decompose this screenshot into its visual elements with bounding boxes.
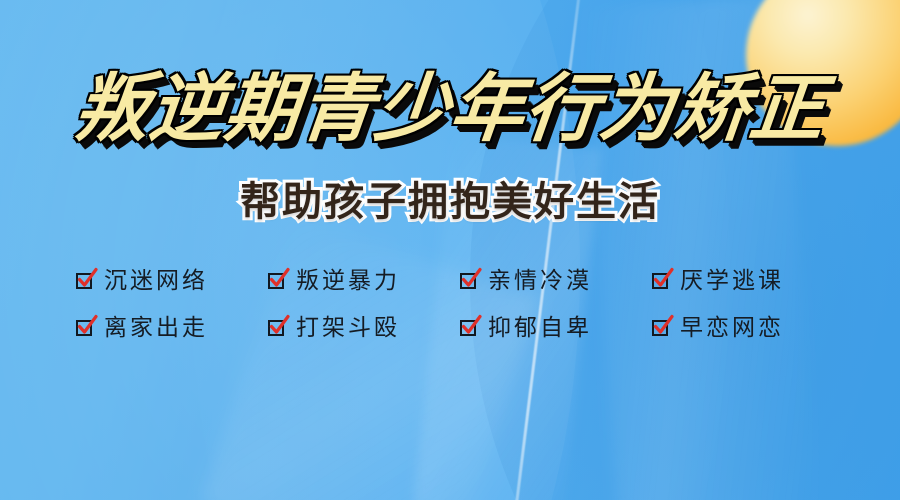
list-item-label: 沉迷网络	[104, 270, 208, 293]
list-item-label: 亲情冷漠	[488, 270, 592, 293]
checked-checkbox-icon	[460, 318, 481, 339]
list-item-label: 离家出走	[104, 317, 208, 340]
checked-checkbox-icon	[460, 271, 481, 292]
checked-checkbox-icon	[76, 271, 97, 292]
list-item: 叛逆暴力	[268, 270, 440, 293]
list-item-label: 早恋网恋	[680, 317, 784, 340]
list-item-label: 打架斗殴	[296, 317, 400, 340]
list-item-label: 叛逆暴力	[296, 270, 400, 293]
page-title: 叛逆期青少年行为矫正	[71, 72, 829, 146]
checked-checkbox-icon	[76, 318, 97, 339]
poster-content: 叛逆期青少年行为矫正 帮助孩子拥抱美好生活 沉迷网络 叛逆暴力	[0, 0, 900, 500]
list-item-label: 抑郁自卑	[488, 317, 592, 340]
checked-checkbox-icon	[652, 318, 673, 339]
page-subtitle: 帮助孩子拥抱美好生活	[240, 182, 660, 222]
poster-canvas: 叛逆期青少年行为矫正 帮助孩子拥抱美好生活 沉迷网络 叛逆暴力	[0, 0, 900, 500]
checked-checkbox-icon	[268, 318, 289, 339]
list-item: 亲情冷漠	[460, 270, 632, 293]
list-item: 打架斗殴	[268, 317, 440, 340]
checked-checkbox-icon	[268, 271, 289, 292]
list-item: 离家出走	[76, 317, 248, 340]
checked-checkbox-icon	[652, 271, 673, 292]
list-item-label: 厌学逃课	[680, 270, 784, 293]
list-item: 沉迷网络	[76, 270, 248, 293]
list-item: 厌学逃课	[652, 270, 824, 293]
checklist: 沉迷网络 叛逆暴力 亲情冷漠	[76, 270, 824, 340]
list-item: 抑郁自卑	[460, 317, 632, 340]
list-item: 早恋网恋	[652, 317, 824, 340]
